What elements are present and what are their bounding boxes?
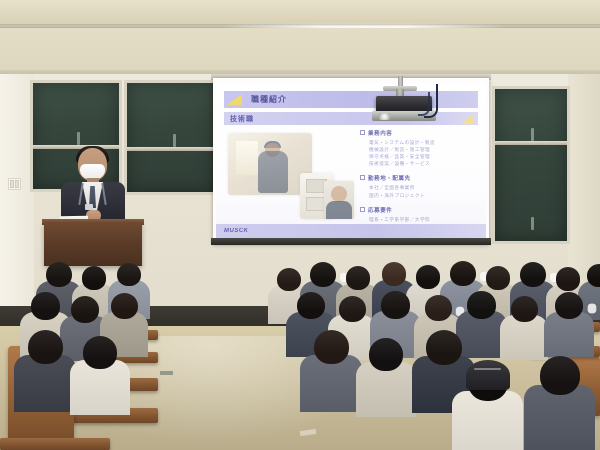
baseball-cap	[466, 360, 510, 390]
chalk-piece	[77, 132, 80, 145]
slide-subtitle-bar: 技術職	[224, 112, 478, 125]
slide-section-line: 機械設計／製造・施工管理	[369, 146, 476, 153]
attendee-head	[277, 268, 301, 291]
attendee-head	[310, 262, 336, 287]
attendee-head	[587, 264, 600, 287]
attendee-head	[486, 266, 511, 290]
attendee	[70, 336, 130, 423]
attendee-head	[31, 292, 60, 320]
presenter-face-mask	[80, 164, 105, 179]
attendee-with-cap	[452, 362, 523, 450]
attendee-head	[511, 296, 538, 322]
attendee-head	[71, 296, 99, 323]
checkbox-icon	[360, 175, 365, 180]
left-wall-panel	[0, 74, 34, 310]
subtitle-triangle-icon	[462, 114, 474, 123]
attendee	[524, 356, 595, 450]
attendee-head	[555, 292, 583, 319]
window-backdrop	[236, 141, 258, 175]
slide-section-line: 理系・工学系学部／大学院	[369, 216, 476, 223]
attendee	[300, 330, 362, 420]
attendee-head	[520, 262, 546, 287]
checkbox-icon	[360, 207, 365, 212]
attendee-face-mask	[587, 304, 596, 314]
slide-title-bar: 職種紹介	[224, 91, 478, 108]
attendee-head	[83, 336, 117, 369]
slide-text-column: 業務内容 電気・システムの設計・製造 機械設計／製造・施工管理 保守点検／品質・…	[354, 129, 476, 221]
light-switch-toggle[interactable]	[15, 180, 19, 188]
footer-company-logo: MUSCK	[224, 228, 249, 234]
slide-section-heading: 勤務地・配属先	[368, 174, 411, 182]
chalk-rail	[127, 147, 215, 151]
attendee-head	[369, 338, 403, 371]
ceiling	[0, 0, 600, 26]
slide-section-line: 国内・海外プロジェクト	[369, 192, 476, 199]
chalk-piece	[173, 134, 176, 147]
slide-section-heading-row: 業務内容	[360, 129, 476, 137]
light-switch-toggle[interactable]	[10, 180, 14, 188]
chalk-rail	[495, 141, 567, 145]
attendee-head	[382, 262, 407, 286]
slide-section-line: 本社／全国各事業所	[369, 184, 476, 191]
projector-cable-secondary	[418, 92, 430, 116]
attendee-head	[467, 291, 496, 319]
attendee	[14, 330, 76, 420]
employee-body	[326, 201, 352, 219]
slide-section-heading: 業務内容	[368, 129, 392, 137]
slide-subtitle: 技術職	[230, 114, 254, 124]
attendee-head	[450, 261, 476, 286]
attendee	[544, 292, 594, 364]
attendee-head	[540, 356, 580, 395]
slide-section-line: 技術提案／設備・サービス	[369, 160, 476, 167]
attendee-head	[28, 330, 63, 364]
slide-photo-group	[226, 129, 354, 221]
podium	[44, 222, 142, 266]
projected-slide: 職種紹介 技術職	[216, 83, 486, 238]
attendee-head	[416, 265, 441, 289]
attendee-torso	[500, 315, 548, 359]
lecture-hall-photo: 職種紹介 技術職	[0, 0, 600, 450]
attendee-head	[426, 330, 462, 365]
attendee-head	[346, 266, 371, 290]
attendee-head	[339, 296, 366, 322]
slide-title: 職種紹介	[251, 94, 287, 105]
checkbox-icon	[360, 130, 365, 135]
slide-section: 勤務地・配属先 本社／全国各事業所 国内・海外プロジェクト	[360, 174, 476, 198]
cap-strap	[474, 368, 501, 370]
slide-section-line: 保守点検／品質・安全管理	[369, 153, 476, 160]
chalk-piece	[531, 128, 534, 141]
slide-body: 業務内容 電気・システムの設計・製造 機械設計／製造・施工管理 保守点検／品質・…	[226, 129, 476, 221]
attendee-head	[425, 295, 452, 321]
slide-section-heading-row: 勤務地・配属先	[360, 174, 476, 182]
screen-bottom-bar	[211, 238, 491, 245]
worker-body	[258, 151, 288, 193]
attendee-head	[556, 267, 581, 291]
slide-section-heading-row: 応募要件	[360, 206, 476, 214]
attendee-head	[46, 262, 72, 287]
attendee-head	[381, 291, 410, 319]
seat-desk[interactable]	[0, 438, 110, 450]
attendee	[356, 338, 416, 425]
upper-wall	[0, 28, 600, 74]
employee-portrait-photo	[324, 181, 354, 219]
attendee-head	[111, 293, 138, 319]
attendee-head	[82, 266, 107, 290]
projector-lens	[379, 113, 390, 120]
slide-footer: MUSCK	[216, 224, 486, 238]
slide-section-heading: 応募要件	[368, 206, 392, 214]
company-triangle-logo-icon	[227, 93, 244, 106]
attendee-head	[117, 263, 141, 286]
aisle-floor-marker	[160, 371, 173, 375]
light-switch-plate[interactable]	[8, 178, 21, 190]
right-chalkboard	[492, 86, 570, 244]
attendee-head	[297, 292, 325, 319]
slide-section-line: 電気・システムの設計・製造	[369, 139, 476, 146]
attendee-head	[314, 330, 349, 364]
employee-head	[331, 186, 347, 202]
middle-chalkboard	[124, 80, 218, 195]
chalk-piece	[531, 217, 534, 230]
slide-section: 業務内容 電気・システムの設計・製造 機械設計／製造・施工管理 保守点検／品質・…	[360, 129, 476, 167]
